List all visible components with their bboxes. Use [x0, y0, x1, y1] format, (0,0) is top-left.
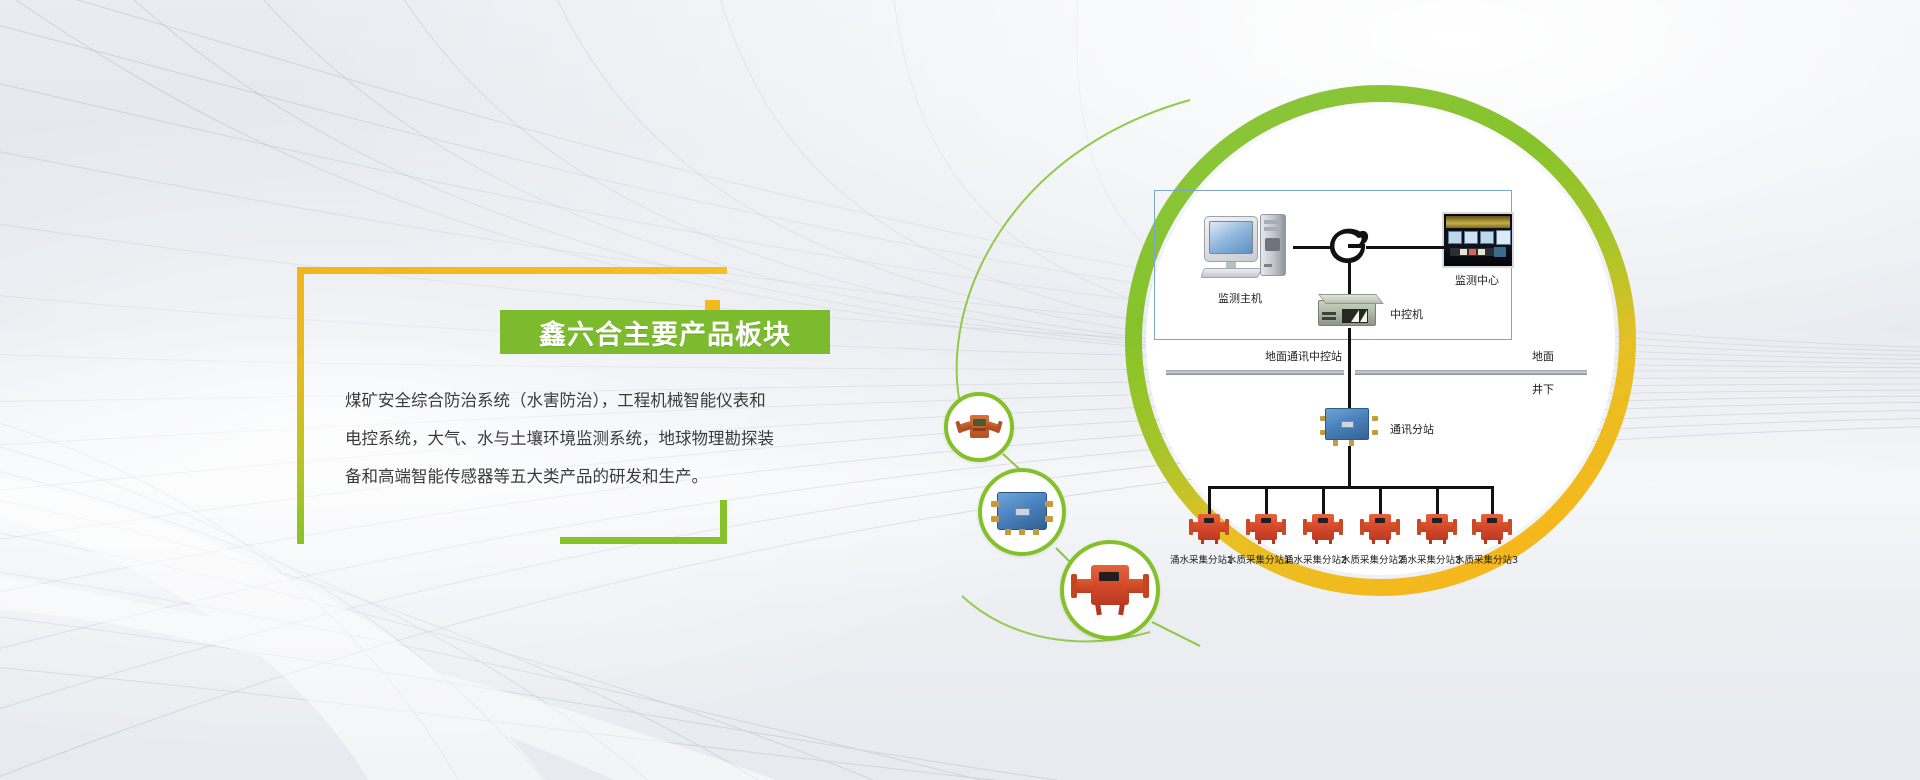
bus-drop: [1379, 486, 1382, 516]
bus-drop: [1491, 486, 1494, 516]
water-hazard-monitoring-diagram: 监测主机 监测中心: [1150, 190, 1620, 580]
bus-drop: [1436, 486, 1439, 516]
collection-station-icon: [1303, 514, 1343, 540]
wire-controller-to-ground: [1348, 328, 1351, 410]
flow-collection-station-icon: [1071, 563, 1149, 617]
central-control-machine-icon: [1318, 294, 1382, 330]
product-callout-controller[interactable]: [944, 392, 1014, 462]
node-label-monitor-host: 监测主机: [1218, 290, 1262, 306]
monitor-host-icon: [1202, 212, 1298, 288]
frame-edge-bottom: [560, 537, 727, 544]
wire-network-to-center: [1366, 246, 1444, 249]
substation-label: 水质采集分站2: [1341, 552, 1404, 566]
communication-substation-icon: [1319, 408, 1379, 448]
collection-station-icon: [1189, 514, 1229, 540]
substation-label: 涌水采集分站2: [1284, 552, 1347, 566]
section-title-banner: 鑫六合主要产品板块: [500, 310, 830, 354]
substation-label: 涌水采集分站1: [1170, 552, 1233, 566]
product-callout-flow-station[interactable]: [1060, 540, 1160, 640]
section-description: 煤矿安全综合防治系统（水害防治），工程机械智能仪表和 电控系统，大气、水与土壤环…: [345, 382, 865, 496]
monitor-center-photo: [1442, 212, 1514, 268]
node-label-monitor-center: 监测中心: [1455, 272, 1499, 288]
bus-drop: [1322, 486, 1325, 516]
description-line: 煤矿安全综合防治系统（水害防治），工程机械智能仪表和: [345, 382, 865, 420]
substation-label: 水质采集分站1: [1227, 552, 1290, 566]
level-label-underground: 井下: [1532, 381, 1554, 397]
wire-substation-to-bus: [1348, 446, 1351, 488]
hero-banner: 鑫六合主要产品板块 煤矿安全综合防治系统（水害防治），工程机械智能仪表和 电控系…: [0, 0, 1920, 780]
collection-station-icon: [1417, 514, 1457, 540]
bus-drop: [1208, 486, 1211, 516]
collection-station-icon: [1246, 514, 1286, 540]
description-line: 备和高端智能传感器等五大类产品的研发和生产。: [345, 458, 865, 496]
bus-horizontal: [1208, 486, 1494, 489]
product-callout-blue-substation[interactable]: [978, 468, 1066, 556]
station-box-caption: 地面通讯中控站: [1265, 348, 1342, 364]
substation-label: 水质采集分站3: [1455, 552, 1518, 566]
bus-drop: [1265, 486, 1268, 516]
blue-junction-box-icon: [991, 489, 1053, 535]
wire-host-to-network: [1293, 246, 1333, 249]
substation-label: 涌水采集分站3: [1398, 552, 1461, 566]
node-label-central-control: 中控机: [1390, 306, 1423, 322]
collection-station-icon: [1472, 514, 1512, 540]
wire-network-to-controller: [1348, 262, 1351, 294]
collection-station-icon: [1360, 514, 1400, 540]
explosion-proof-controller-icon: [957, 414, 1001, 440]
ground-level-line-left: [1166, 370, 1344, 375]
ground-level-line-right: [1355, 370, 1587, 375]
frame-edge-top: [297, 267, 727, 274]
description-line: 电控系统，大气、水与土壤环境监测系统，地球物理勘探装: [345, 420, 865, 458]
level-label-surface: 地面: [1532, 348, 1554, 364]
page-title: 鑫六合主要产品板块: [539, 313, 791, 352]
frame-edge-left: [297, 267, 304, 544]
node-label-comm-substation: 通讯分站: [1390, 421, 1434, 437]
